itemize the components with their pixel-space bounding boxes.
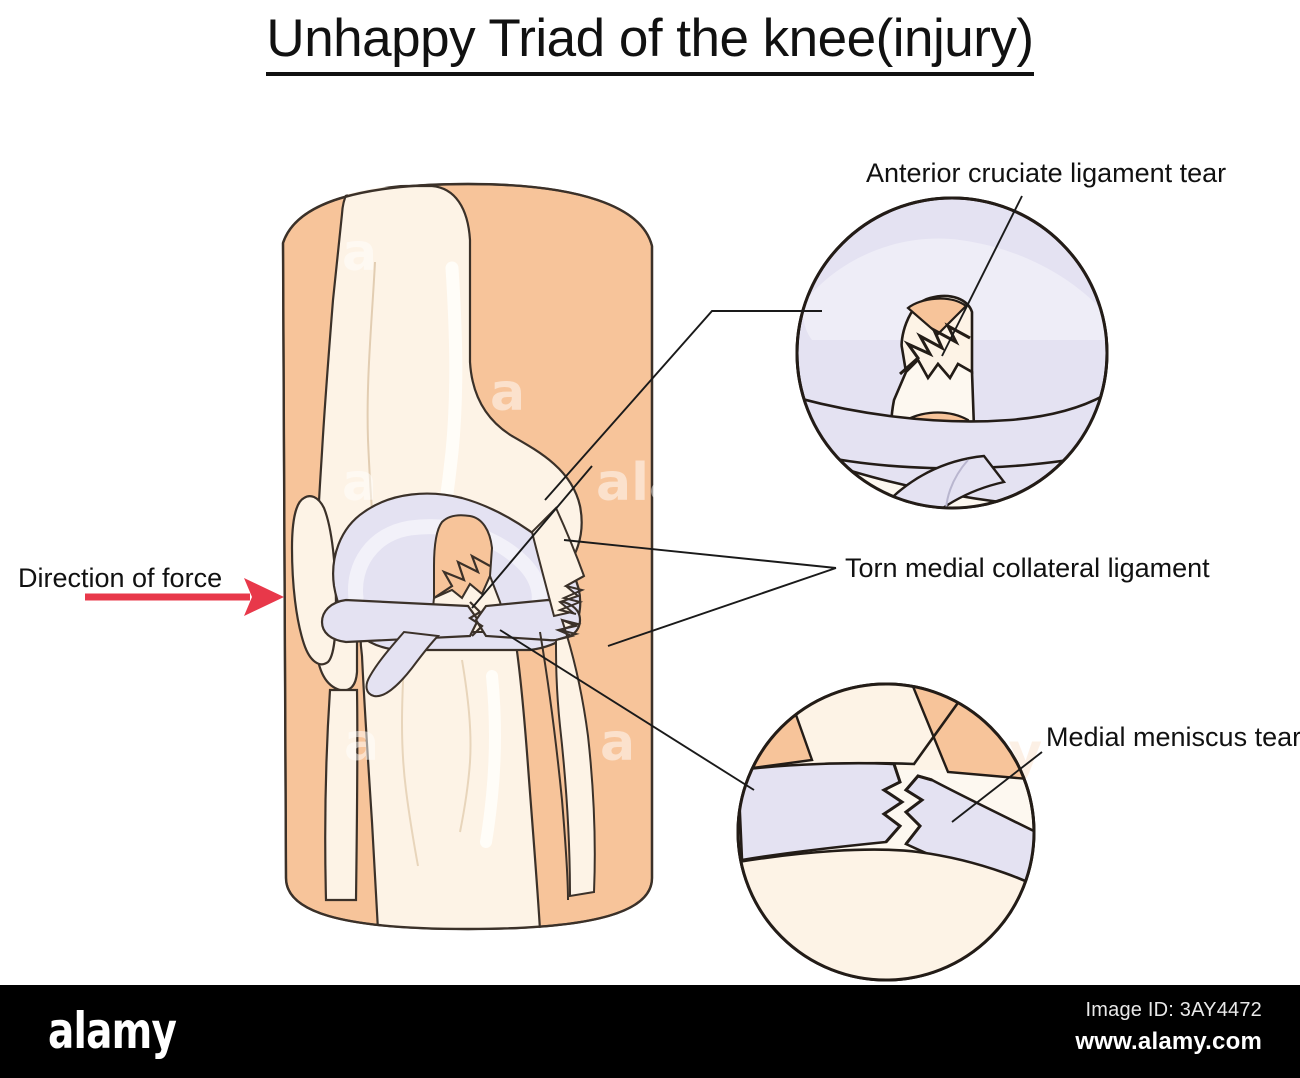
illustration-canvas: Unhappy Triad of the knee(injury) [0,0,1300,1078]
label-anterior-cruciate-ligament-tear: Anterior cruciate ligament tear [866,157,1226,189]
label-direction-of-force: Direction of force [18,562,222,594]
svg-text:a: a [342,223,377,283]
inset-acl-tear [797,198,1112,534]
alamy-logo: alamy [48,1002,176,1060]
alamy-watermark-bar: alamy Image ID: 3AY4472 www.alamy.com [0,985,1300,1078]
main-knee-view [283,184,652,930]
label-torn-medial-collateral-ligament: Torn medial collateral ligament [845,552,1210,584]
acl-upper-stump [434,515,492,598]
svg-text:a: a [490,363,525,423]
label-medial-meniscus-tear: Medial meniscus tear [1046,721,1300,753]
svg-text:ala: ala [596,453,684,513]
svg-text:a: a [344,713,379,773]
alamy-url-text: www.alamy.com [1075,1028,1262,1056]
svg-text:a: a [342,453,377,513]
image-id-text: Image ID: 3AY4472 [1086,999,1262,1022]
svg-text:a: a [600,713,635,773]
